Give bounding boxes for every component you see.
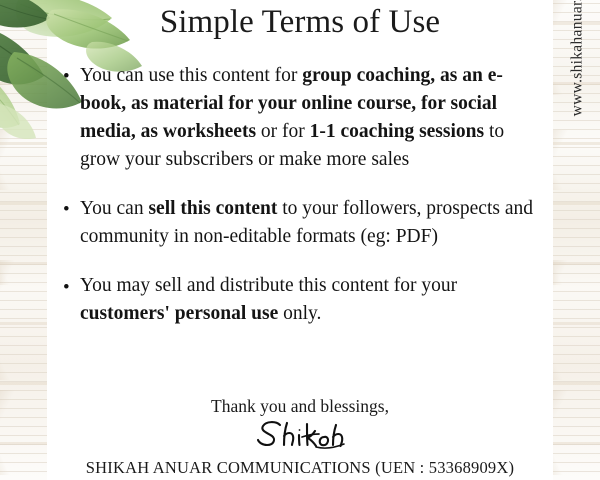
term-text: You can use this content for group coach…	[80, 65, 504, 170]
term-text: You can sell this content to your follow…	[80, 198, 533, 247]
signature	[47, 418, 553, 450]
main-content: Simple Terms of Use • You can use this c…	[47, 0, 553, 480]
closing-block: Thank you and blessings,	[47, 396, 553, 450]
website-url-text: www.shikahanuar.com	[568, 0, 586, 116]
bullet-icon: •	[63, 274, 70, 301]
term-text: You may sell and distribute this content…	[80, 275, 457, 324]
website-url-vertical[interactable]: www.shikahanuar.com	[562, 34, 592, 234]
company-legal-line: SHIKAH ANUAR COMMUNICATIONS (UEN : 53368…	[0, 458, 600, 478]
term-item-distribution-rights: • You may sell and distribute this conte…	[80, 272, 547, 328]
term-item-usage-rights: • You can use this content for group coa…	[80, 62, 547, 174]
thank-you-line: Thank you and blessings,	[47, 396, 553, 417]
terms-list: • You can use this content for group coa…	[47, 62, 553, 329]
term-item-resale-rights: • You can sell this content to your foll…	[80, 195, 547, 251]
page-title: Simple Terms of Use	[47, 3, 553, 42]
bullet-icon: •	[63, 196, 70, 223]
left-texture-strip	[0, 0, 47, 480]
bullet-icon: •	[63, 63, 70, 90]
signature-shikah-icon	[254, 419, 346, 449]
terms-of-use-page: Simple Terms of Use • You can use this c…	[0, 0, 600, 480]
